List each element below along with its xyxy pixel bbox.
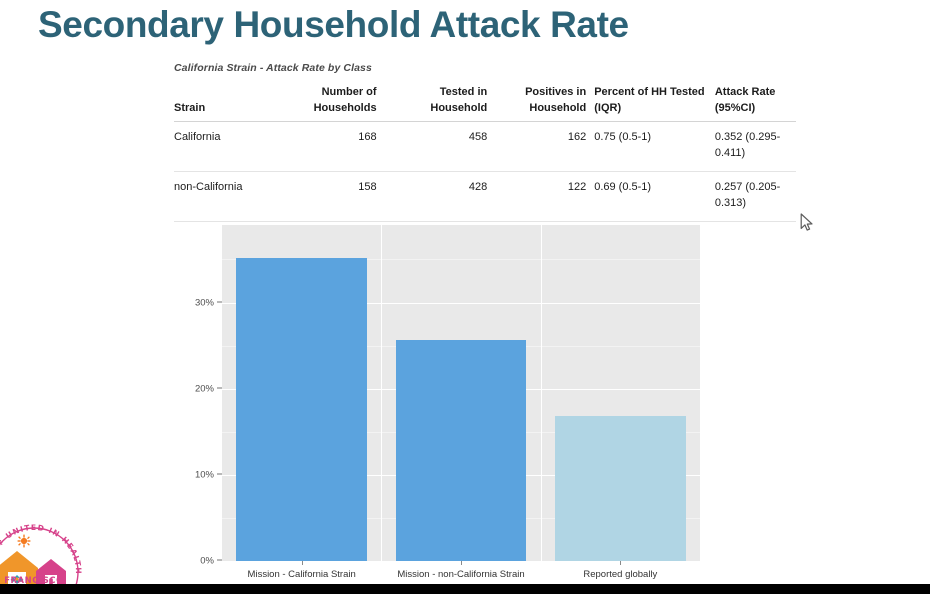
column-header-attack-rate-line2: (95%CI): [715, 102, 755, 114]
column-header-tested-in-household-line2: Household: [430, 102, 487, 114]
cell-attack-rate: 0.352 (0.295-0.411): [715, 122, 796, 172]
cell-strain: California: [174, 122, 282, 172]
bar-1: [236, 258, 367, 561]
column-header-tested-in-household-line1: Tested in: [440, 86, 487, 98]
y-axis-tick-label: 30%: [195, 297, 222, 308]
bar-3: [555, 416, 686, 561]
cell-percent-hh-tested: 0.69 (0.5-1): [594, 172, 715, 222]
gridline-vertical: [541, 225, 542, 561]
x-axis-tick-mark: [302, 561, 303, 565]
cell-tested-in-household: 458: [395, 122, 508, 172]
table-header-row: Strain Number of Households Tested in Ho…: [174, 85, 796, 122]
y-axis-tick-label: 20%: [195, 383, 222, 394]
y-axis-tick-label: 0%: [200, 556, 222, 567]
column-header-strain-line2: Strain: [174, 102, 205, 114]
x-axis-tick-mark: [620, 561, 621, 565]
x-axis-tick-label: Mission - non-California Strain: [397, 569, 524, 580]
cell-strain: non-California: [174, 172, 282, 222]
x-axis-tick-mark: [461, 561, 462, 565]
column-header-tested-in-household: Tested in Household: [395, 85, 508, 122]
column-header-percent-hh-tested-line1: Percent of HH Tested: [594, 86, 704, 98]
column-header-positives-in-household: Positives in Household: [507, 85, 594, 122]
column-header-percent-hh-tested-line2: (IQR): [594, 102, 621, 114]
column-header-number-of-households: Number of Households: [282, 85, 394, 122]
cell-number-of-households: 158: [282, 172, 394, 222]
attack-rate-table: Strain Number of Households Tested in Ho…: [174, 85, 796, 222]
x-axis-tick-label: Reported globally: [583, 569, 657, 580]
x-axis-tick-label: Mission - California Strain: [248, 569, 356, 580]
gridline-vertical: [381, 225, 382, 561]
page-title: Secondary Household Attack Rate: [38, 4, 629, 46]
cell-positives-in-household: 122: [507, 172, 594, 222]
column-header-strain: Strain: [174, 85, 282, 122]
column-header-positives-in-household-line2: Household: [529, 102, 586, 114]
cell-tested-in-household: 428: [395, 172, 508, 222]
table-row: California 168 458 162 0.75 (0.5-1) 0.35…: [174, 122, 796, 172]
x-axis-ticks: Mission - California StrainMission - non…: [222, 561, 700, 585]
cell-percent-hh-tested: 0.75 (0.5-1): [594, 122, 715, 172]
plot-panel: [222, 225, 700, 561]
attack-rate-bar-chart: Secondary household attack rate 0%10%20%…: [182, 225, 712, 585]
attack-rate-table-block: California Strain - Attack Rate by Class…: [174, 62, 796, 222]
cell-positives-in-household: 162: [507, 122, 594, 172]
bar-2: [396, 340, 527, 561]
column-header-number-of-households-line2: Households: [314, 102, 377, 114]
column-header-attack-rate: Attack Rate (95%CI): [715, 85, 796, 122]
table-row: non-California 158 428 122 0.69 (0.5-1) …: [174, 172, 796, 222]
y-axis-tick-label: 10%: [195, 469, 222, 480]
cell-number-of-households: 168: [282, 122, 394, 172]
column-header-number-of-households-line1: Number of: [322, 86, 377, 98]
bottom-black-bar: [0, 584, 930, 594]
table-caption: California Strain - Attack Rate by Class: [174, 62, 796, 74]
column-header-attack-rate-line1: Attack Rate: [715, 86, 776, 98]
column-header-positives-in-household-line1: Positives in: [525, 86, 586, 98]
mouse-cursor-arrow-icon: [800, 213, 814, 233]
united-in-health-logo: OD ✻ UNITED IN HEALTH: [0, 524, 98, 586]
column-header-percent-hh-tested: Percent of HH Tested (IQR): [594, 85, 715, 122]
y-axis-ticks: 0%10%20%30%: [182, 225, 222, 561]
cell-attack-rate: 0.257 (0.205-0.313): [715, 172, 796, 222]
